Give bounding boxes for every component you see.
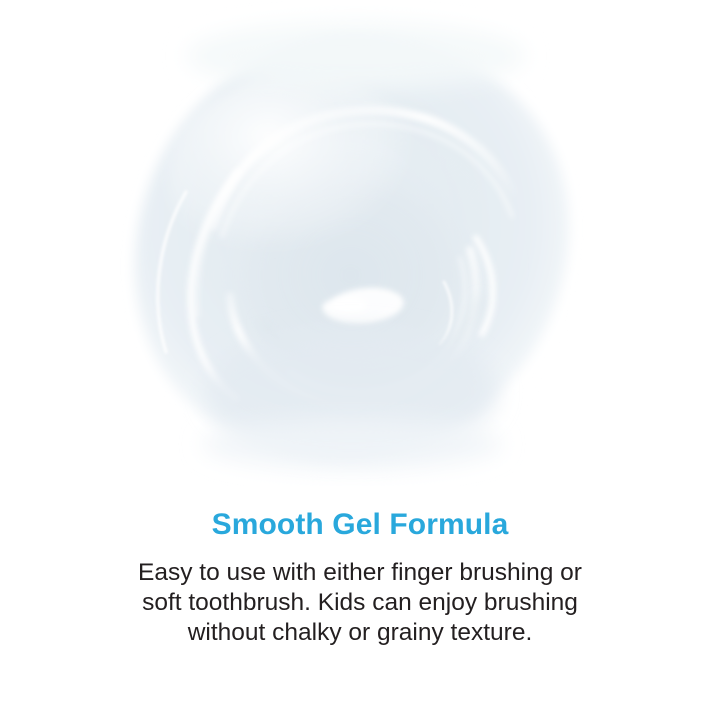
feature-heading: Smooth Gel Formula (0, 506, 720, 544)
description-line-2: soft toothbrush. Kids can enjoy brushing (0, 588, 720, 618)
caption-block: Smooth Gel Formula Easy to use with eith… (0, 506, 720, 648)
gel-swatch-image (0, 0, 720, 500)
gel-upper-lobe (168, 74, 432, 282)
gel-top-edge-fade (186, 22, 526, 90)
product-feature-panel: Smooth Gel Formula Easy to use with eith… (0, 0, 720, 720)
description-line-1: Easy to use with either finger brushing … (0, 558, 720, 588)
gel-bottom-edge-fade (202, 418, 502, 470)
description-line-3: without chalky or grainy texture. (0, 618, 720, 648)
feature-description: Easy to use with either finger brushing … (0, 558, 720, 648)
